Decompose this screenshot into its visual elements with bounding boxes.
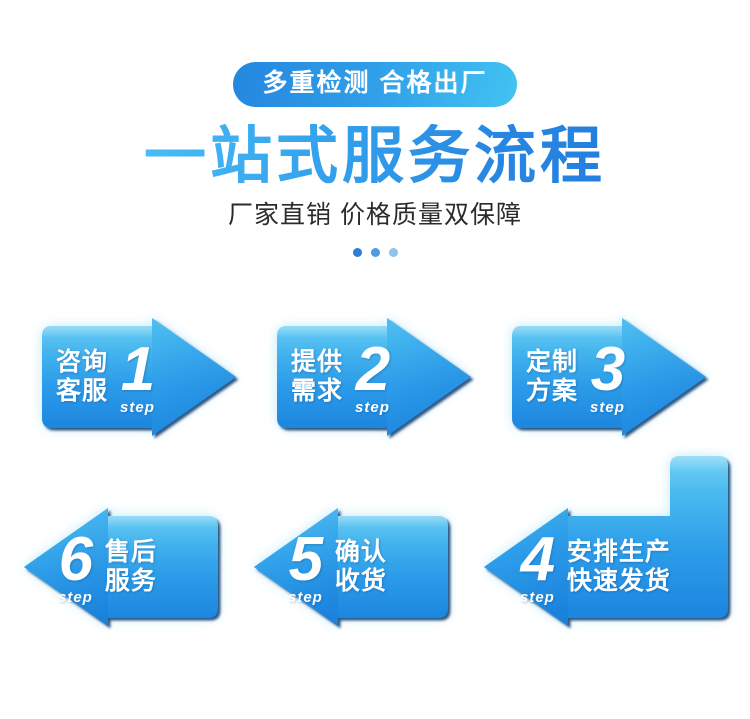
flow-step-4-line2: 快速发货	[567, 567, 671, 597]
flow-step-4-number: 4	[521, 533, 554, 586]
flow-step-3-line1: 定制	[526, 348, 578, 378]
flow-step-4-step-word: step	[520, 590, 555, 605]
promo-banner: 多重检测 合格出厂 一站式服务流程 厂家直销 价格质量双保障	[0, 0, 750, 719]
flow-step-2-line1: 提供	[291, 348, 343, 378]
flow-step-5-text: 确认 收货	[335, 538, 387, 597]
flow-step-2-text: 提供 需求	[291, 348, 343, 407]
flow-step-2[interactable]: 提供 需求 2 step	[291, 340, 461, 414]
flow-step-4[interactable]: 4 step 安排生产 快速发货	[520, 530, 671, 604]
flow-step-2-line2: 需求	[291, 377, 343, 407]
flow-step-6-line2: 服务	[105, 567, 157, 597]
flow-step-4-badge: 4 step	[520, 533, 555, 604]
page-title: 一站式服务流程	[0, 124, 750, 189]
flow-step-5[interactable]: 5 step 确认 收货	[288, 530, 387, 604]
flow-step-3-text: 定制 方案	[526, 348, 578, 407]
flow-step-5-line1: 确认	[335, 538, 387, 568]
flow-step-5-line2: 收货	[335, 567, 387, 597]
flow-step-5-step-word: step	[288, 590, 323, 605]
flow-step-6-line1: 售后	[105, 538, 157, 568]
dot-2-icon	[371, 248, 380, 257]
flow-step-6-text: 售后 服务	[105, 538, 157, 597]
dot-1-icon	[353, 248, 362, 257]
dot-3-icon	[389, 248, 398, 257]
flow-step-1-line2: 客服	[56, 377, 108, 407]
header-badge: 多重检测 合格出厂	[233, 62, 518, 107]
flow-step-1[interactable]: 咨询 客服 1 step	[56, 340, 226, 414]
page-subtitle: 厂家直销 价格质量双保障	[0, 200, 750, 230]
flow-step-2-badge: 2 step	[355, 343, 390, 414]
flow-step-1-number: 1	[121, 343, 154, 396]
flow-step-6-badge: 6 step	[58, 533, 93, 604]
flow-step-3[interactable]: 定制 方案 3 step	[526, 340, 696, 414]
flow-step-5-badge: 5 step	[288, 533, 323, 604]
flow-step-6-number: 6	[59, 533, 92, 586]
flow-step-4-line1: 安排生产	[567, 538, 671, 568]
flow-step-1-badge: 1 step	[120, 343, 155, 414]
flow-step-3-badge: 3 step	[590, 343, 625, 414]
flow-step-1-line1: 咨询	[56, 348, 108, 378]
flow-step-3-step-word: step	[590, 400, 625, 415]
flow-step-3-line2: 方案	[526, 377, 578, 407]
flow-step-1-text: 咨询 客服	[56, 348, 108, 407]
flow-step-6-step-word: step	[58, 590, 93, 605]
flow-step-3-number: 3	[591, 343, 624, 396]
flow-step-4-text: 安排生产 快速发货	[567, 538, 671, 597]
flow-step-1-step-word: step	[120, 400, 155, 415]
flow-step-6[interactable]: 6 step 售后 服务	[58, 530, 157, 604]
flow-step-2-step-word: step	[355, 400, 390, 415]
flow-step-2-number: 2	[356, 343, 389, 396]
dot-separator	[0, 248, 750, 257]
header: 多重检测 合格出厂 一站式服务流程 厂家直销 价格质量双保障	[0, 0, 750, 257]
flow-step-5-number: 5	[289, 533, 322, 586]
